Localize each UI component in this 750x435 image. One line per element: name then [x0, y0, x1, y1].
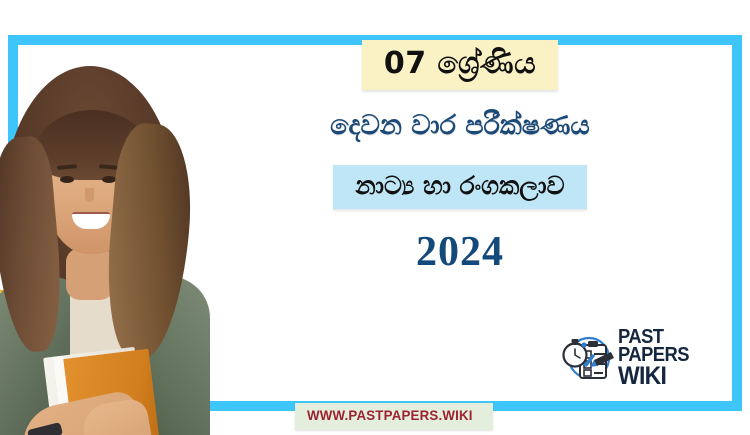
neck	[66, 248, 114, 300]
year-label: 2024	[180, 231, 740, 273]
logo-line-past-papers: PAST PAPERS	[618, 329, 728, 364]
logo-wordmark: PAST PAPERS WIKI	[618, 329, 738, 386]
eye-left	[60, 176, 74, 183]
term-label: දෙවන වාර පරීක්ෂණය	[180, 110, 740, 141]
logo-line-wiki: WIKI	[618, 365, 728, 387]
stopwatch-icon	[564, 339, 587, 367]
subject-banner-row: නාට්‍ය හා රංගකලාව	[180, 165, 740, 210]
subject-label: නාට්‍ය හා රංගකලාව	[355, 171, 564, 200]
grade-banner: 07 ශ්‍රේණිය	[362, 40, 558, 90]
grade-label: 07 ශ්‍රේණිය	[384, 46, 536, 81]
subject-banner: නාට්‍ය හා රංගකලාව	[333, 165, 586, 210]
nose	[85, 188, 94, 202]
website-url-badge[interactable]: WWW.PASTPAPERS.WIKI	[295, 403, 493, 430]
website-url-text: WWW.PASTPAPERS.WIKI	[307, 407, 473, 423]
eye-right	[102, 176, 116, 183]
grade-banner-row: 07 ශ්‍රේණිය	[180, 40, 740, 90]
exam-cover-page: 07 ශ්‍රේණිය දෙවන වාර පරීක්ෂණය නාට්‍ය හා …	[0, 0, 750, 435]
logo-mark	[558, 330, 616, 386]
past-papers-wiki-logo[interactable]: PAST PAPERS WIKI	[558, 328, 738, 388]
